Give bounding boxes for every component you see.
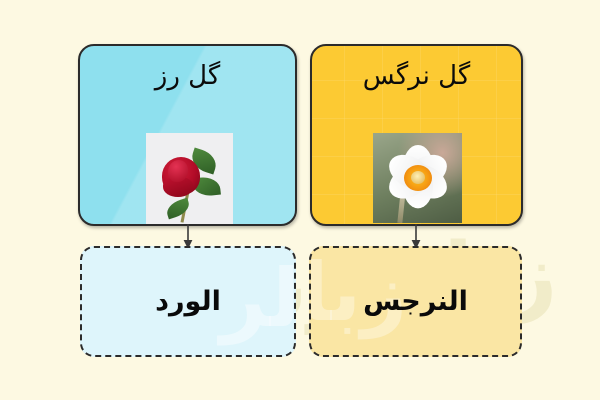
answer-box-rose[interactable]: لر الورد [80, 246, 296, 357]
flashcard-rose[interactable]: گل رز [78, 44, 297, 226]
answer-box-narcissus-label: النرجس [363, 286, 468, 317]
white-narcissus-photo [373, 133, 462, 223]
narcissus-stamen-icon [411, 171, 425, 184]
flashcard-narcissus[interactable]: گل نرگس [310, 44, 523, 226]
rose-leaf-icon [164, 198, 191, 220]
red-rose-photo [146, 133, 233, 225]
answer-box-rose-watermark: لر [220, 252, 296, 345]
rose-petal-icon [168, 160, 188, 182]
flashcard-canvas: زبان زبان گل رز لر الورد گل نرگس [0, 0, 600, 400]
flashcard-narcissus-title: گل نرگس [312, 60, 521, 93]
answer-box-narcissus[interactable]: زبا النرجس [309, 246, 522, 357]
flashcard-rose-title: گل رز [80, 60, 295, 93]
answer-box-rose-label: الورد [155, 286, 221, 317]
